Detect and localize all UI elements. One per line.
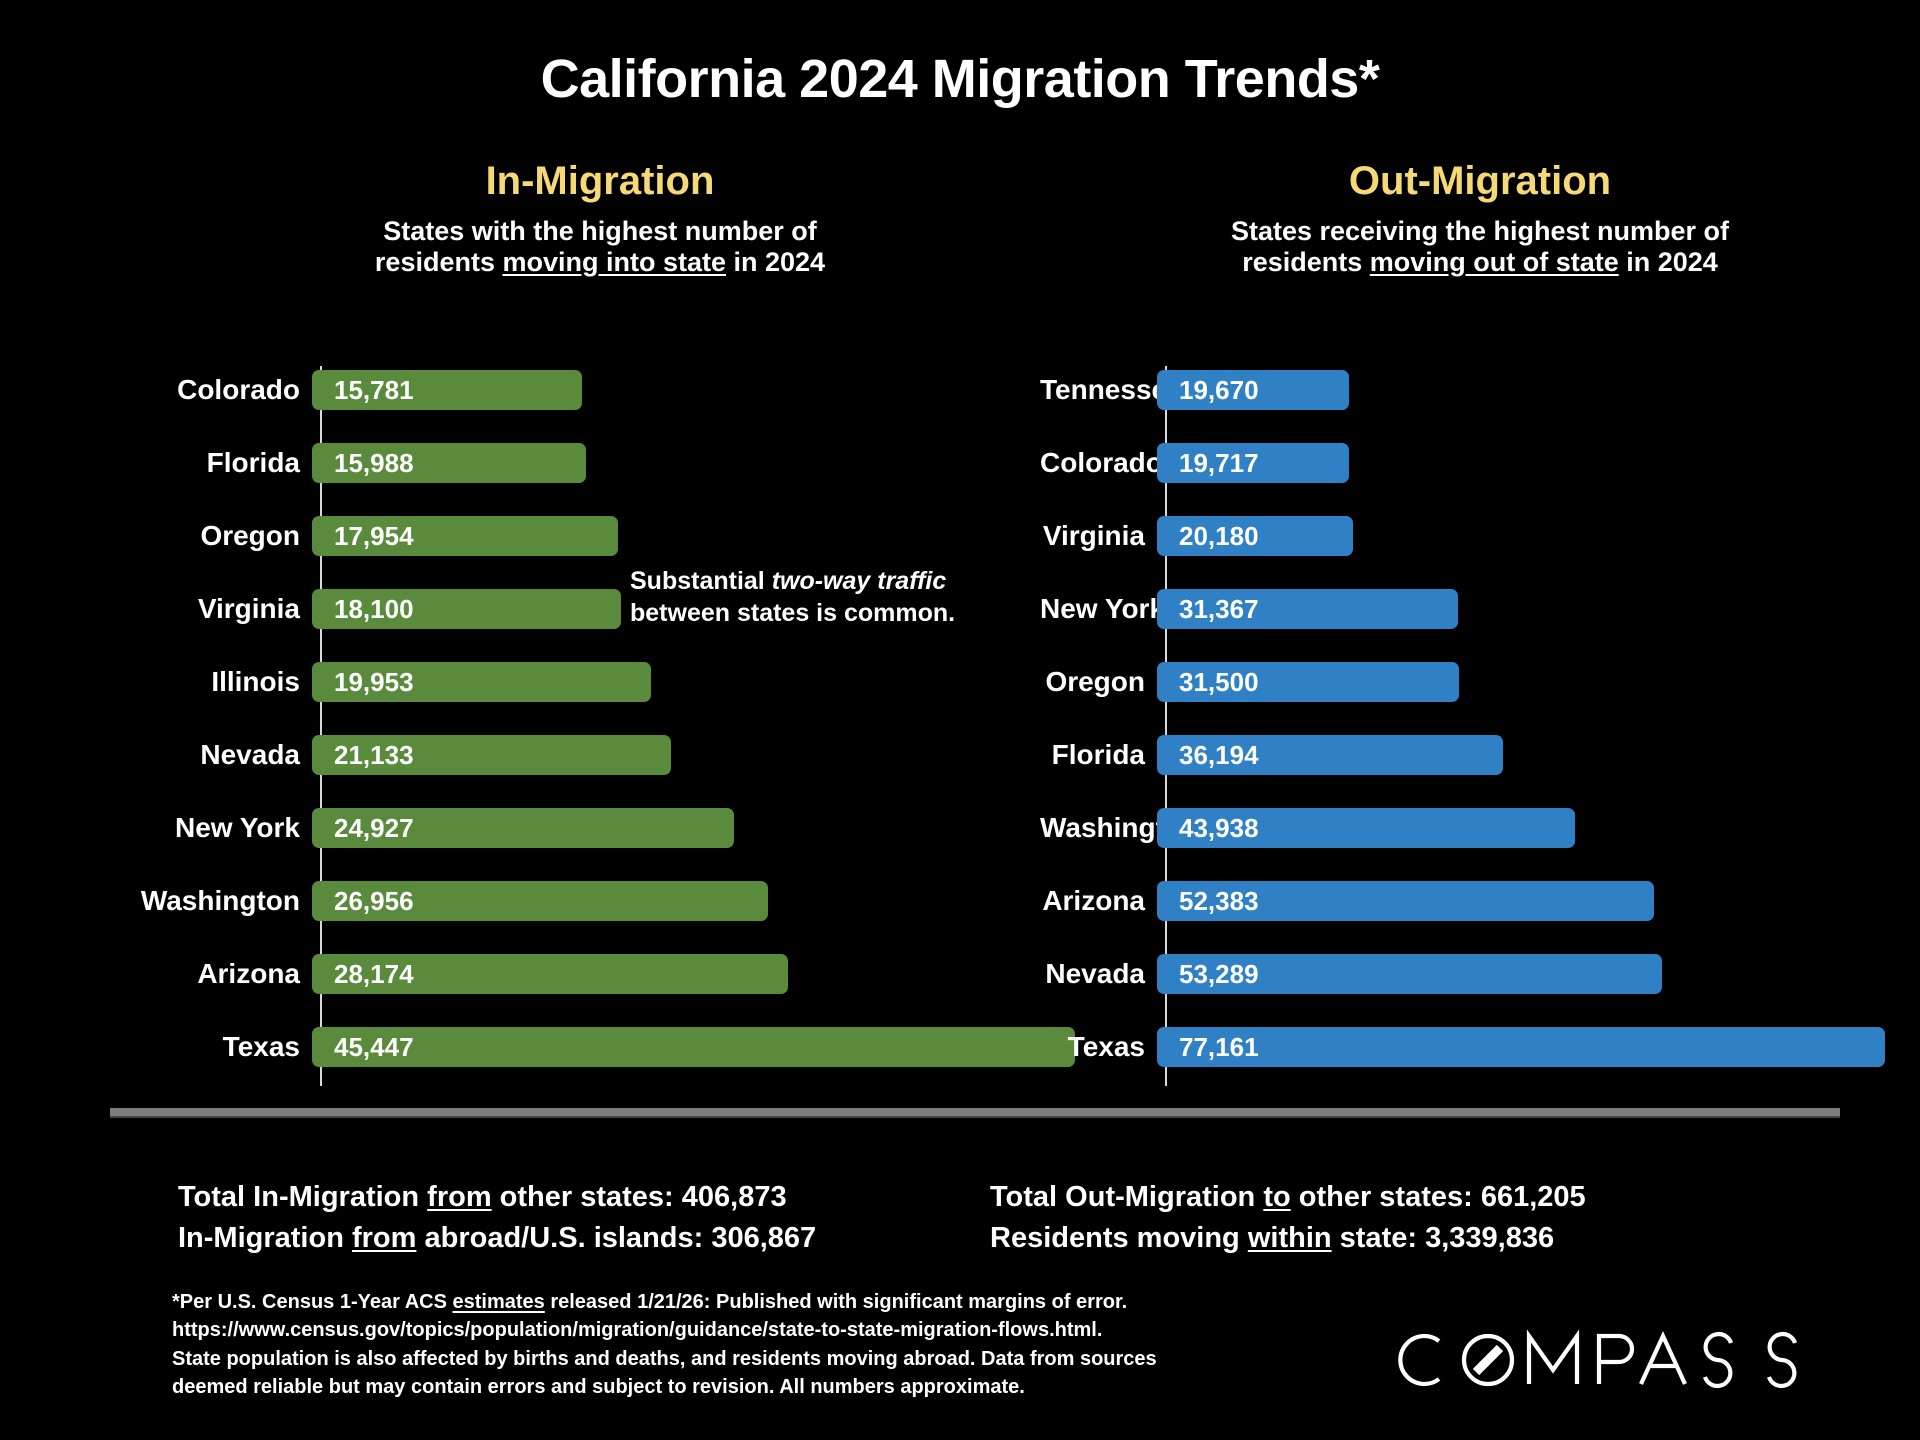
bar-row: Illinois19,953 [100,660,1000,704]
bar-row: Arizona52,383 [1040,879,1900,923]
bar: 19,717 [1157,443,1349,483]
annotation-emphasis-text: two-way traffic [772,567,947,595]
out-migration-title: Out-Migration [1130,160,1830,202]
bar: 31,500 [1157,662,1459,702]
total-out-migration-other-states: Total Out-Migration to other states: 661… [990,1177,1586,1218]
bar-row: Washington26,956 [100,879,1000,923]
out-migration-subtitle-line1: States receiving the highest number of [1130,216,1830,247]
bar-category-label: Tennessee [1040,368,1145,412]
bar-value-label: 26,956 [334,881,414,921]
footnote: *Per U.S. Census 1-Year ACS estimates re… [172,1288,1402,1402]
footnote-line-4: deemed reliable but may contain errors a… [172,1373,1402,1401]
bar-row: Texas45,447 [100,1025,1000,1069]
bar-row: Nevada21,133 [100,733,1000,777]
in-migration-header: In-Migration States with the highest num… [250,160,950,278]
bar: 18,100 [312,589,621,629]
in-migration-bar-chart: Colorado15,781Florida15,988Oregon17,954V… [100,366,1000,1086]
bar: 15,988 [312,443,586,483]
bar-value-label: 21,133 [334,735,414,775]
sub2-post-text: in 2024 [726,247,825,277]
annotation-pre-text: Substantial [630,567,772,595]
bar-row: Florida36,194 [1040,733,1900,777]
sub2-pre-text: residents [375,247,503,277]
bar-row: New York31,367 [1040,587,1900,631]
bar-value-label: 53,289 [1179,954,1259,994]
out-migration-totals: Total Out-Migration to other states: 661… [990,1177,1586,1259]
residents-moving-within-state: Residents moving within state: 3,339,836 [990,1218,1586,1259]
total-in-migration-other-states: Total In-Migration from other states: 40… [178,1177,816,1218]
totals-text: Total In-Migration [178,1181,427,1213]
bar-value-label: 17,954 [334,516,414,556]
footnote-underlined-word: estimates [453,1291,545,1313]
bar-row: Arizona28,174 [100,952,1000,996]
bar-row: Oregon31,500 [1040,660,1900,704]
bar: 77,161 [1157,1027,1885,1067]
sub2-pre-text: residents [1242,247,1370,277]
bar-value-label: 19,953 [334,662,414,702]
slide-canvas: California 2024 Migration Trends* In-Mig… [0,0,1920,1440]
bar: 45,447 [312,1027,1075,1067]
bar: 52,383 [1157,881,1654,921]
totals-underlined-word: from [427,1181,491,1213]
bar: 20,180 [1157,516,1353,556]
bar-row: Tennessee19,670 [1040,368,1900,412]
bar-value-label: 45,447 [334,1027,414,1067]
footnote-line-1: *Per U.S. Census 1-Year ACS estimates re… [172,1288,1402,1316]
bar: 19,670 [1157,370,1349,410]
footnote-text: released 1/21/26: Published with signifi… [545,1291,1127,1313]
bar-category-label: Florida [100,441,300,485]
totals-text: other states: 661,205 [1291,1181,1586,1213]
bar-row: Colorado19,717 [1040,441,1900,485]
bar: 26,956 [312,881,768,921]
out-migration-subtitle-line2: residents moving out of state in 2024 [1130,247,1830,278]
bar-category-label: Florida [1040,733,1145,777]
bar-value-label: 77,161 [1179,1027,1259,1067]
bar: 17,954 [312,516,618,556]
bar-category-label: Illinois [100,660,300,704]
bar-category-label: Texas [1040,1025,1145,1069]
bar-category-label: Washington [100,879,300,923]
footnote-source-url: https://www.census.gov/topics/population… [172,1316,1402,1344]
bar-value-label: 19,717 [1179,443,1259,483]
bar-row: Colorado15,781 [100,368,1000,412]
totals-text: In-Migration [178,1222,352,1254]
in-migration-title: In-Migration [250,160,950,202]
bar: 31,367 [1157,589,1458,629]
totals-underlined-word: to [1263,1181,1290,1213]
bar: 21,133 [312,735,671,775]
bar-value-label: 28,174 [334,954,414,994]
sub2-underlined-text: moving into state [502,247,726,277]
bar: 15,781 [312,370,582,410]
bar: 19,953 [312,662,651,702]
totals-text: other states: 406,873 [492,1181,787,1213]
section-divider [110,1108,1840,1118]
bar-row: Texas77,161 [1040,1025,1900,1069]
bar-value-label: 52,383 [1179,881,1259,921]
bar-value-label: 24,927 [334,808,414,848]
totals-text: abroad/U.S. islands: 306,867 [416,1222,816,1254]
bar: 28,174 [312,954,788,994]
sub2-underlined-text: moving out of state [1370,247,1619,277]
in-migration-subtitle-line2: residents moving into state in 2024 [250,247,950,278]
out-migration-bar-chart: Tennessee19,670Colorado19,717Virginia20,… [1040,366,1900,1086]
bar: 24,927 [312,808,734,848]
bar-row: New York24,927 [100,806,1000,850]
bar: 53,289 [1157,954,1662,994]
two-way-traffic-annotation: Substantial two-way traffic between stat… [630,565,1030,629]
bar-row: Oregon17,954 [100,514,1000,558]
bar-value-label: 31,367 [1179,589,1259,629]
bar-category-label: New York [100,806,300,850]
bar-value-label: 18,100 [334,589,414,629]
footnote-text: *Per U.S. Census 1-Year ACS [172,1291,453,1313]
in-migration-subtitle-line1: States with the highest number of [250,216,950,247]
bar-category-label: Arizona [1040,879,1145,923]
bar-category-label: Colorado [1040,441,1145,485]
bar-value-label: 31,500 [1179,662,1259,702]
bar-value-label: 20,180 [1179,516,1259,556]
bar-category-label: Virginia [100,587,300,631]
bar-category-label: Texas [100,1025,300,1069]
out-migration-header: Out-Migration States receiving the highe… [1130,160,1830,278]
totals-underlined-word: from [352,1222,416,1254]
in-migration-totals: Total In-Migration from other states: 40… [178,1177,816,1259]
bar-row: Virginia20,180 [1040,514,1900,558]
bar-value-label: 19,670 [1179,370,1259,410]
bar-row: Nevada53,289 [1040,952,1900,996]
totals-text: Residents moving [990,1222,1248,1254]
total-in-migration-abroad: In-Migration from abroad/U.S. islands: 3… [178,1218,816,1259]
bar: 43,938 [1157,808,1575,848]
in-migration-subtitle: States with the highest number of reside… [250,216,950,278]
bar-row: Florida15,988 [100,441,1000,485]
out-migration-subtitle: States receiving the highest number of r… [1130,216,1830,278]
bar-category-label: Colorado [100,368,300,412]
bar-category-label: Nevada [1040,952,1145,996]
totals-underlined-word: within [1248,1222,1332,1254]
annotation-post-text: between states is common. [630,599,955,627]
bar-category-label: Oregon [100,514,300,558]
bar-category-label: New York [1040,587,1145,631]
bar-category-label: Oregon [1040,660,1145,704]
bar-category-label: Arizona [100,952,300,996]
bar-category-label: Virginia [1040,514,1145,558]
bar-category-label: Washington [1040,806,1145,850]
totals-text: Total Out-Migration [990,1181,1263,1213]
page-title: California 2024 Migration Trends* [0,48,1920,110]
bar-value-label: 15,988 [334,443,414,483]
sub2-post-text: in 2024 [1619,247,1718,277]
bar-row: Washington43,938 [1040,806,1900,850]
bar-value-label: 15,781 [334,370,414,410]
bar-value-label: 36,194 [1179,735,1259,775]
footnote-line-3: State population is also affected by bir… [172,1345,1402,1373]
totals-text: state: 3,339,836 [1332,1222,1554,1254]
bar: 36,194 [1157,735,1503,775]
bar-category-label: Nevada [100,733,300,777]
compass-logo [1395,1325,1805,1395]
bar-value-label: 43,938 [1179,808,1259,848]
